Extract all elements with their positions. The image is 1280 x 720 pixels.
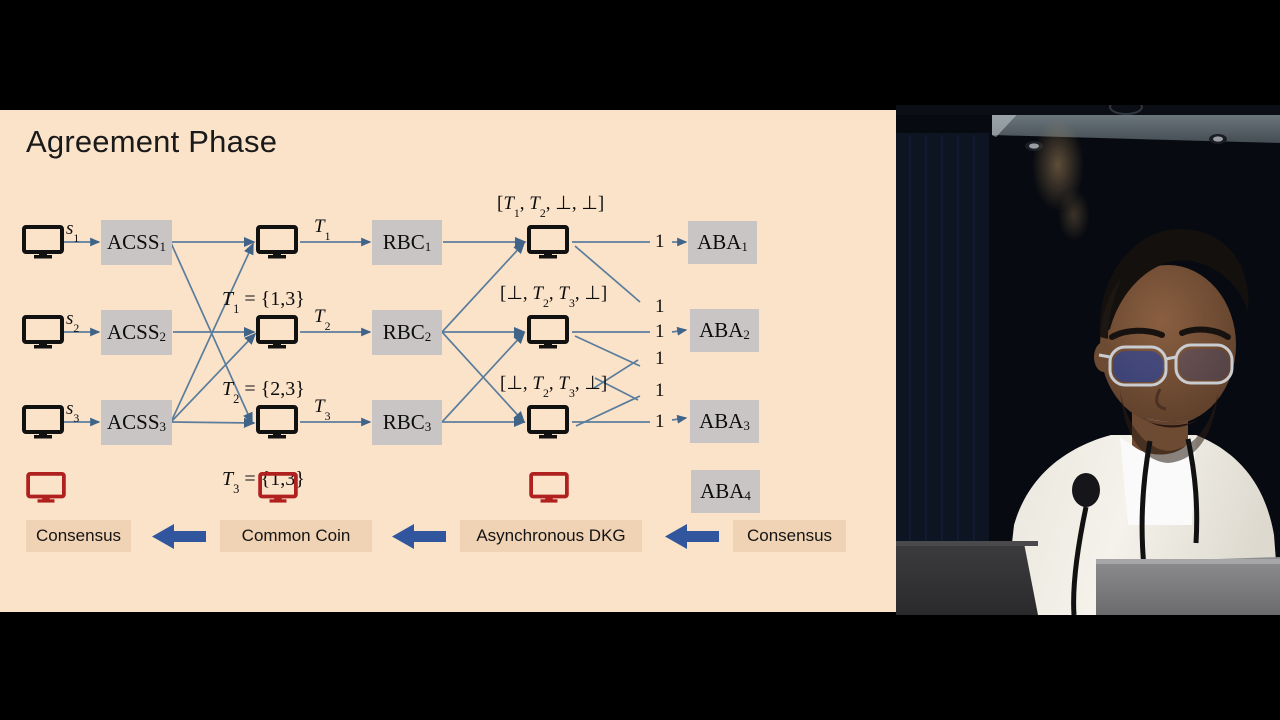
node-monitor-icon-6 (256, 405, 298, 439)
phase-monitor-icon-2 (258, 472, 298, 504)
letterbox-slide-bottom (0, 612, 896, 615)
t-set-label-1: T1 = {1,3} (222, 288, 305, 314)
presentation-slide: Agreement Phase (0, 110, 896, 612)
rbc-box-1: RBC1 (372, 220, 442, 265)
aba-input-value-3: 1 (655, 321, 665, 343)
input-label-s1: s1 (66, 218, 79, 243)
acss-box-3: ACSS3 (101, 400, 172, 445)
node-monitor-icon-7 (527, 225, 569, 259)
node-monitor-icon-4 (256, 225, 298, 259)
aba-box-3: ABA3 (690, 400, 759, 443)
letterbox-slide-top (0, 105, 896, 110)
phase-monitor-icon-3 (529, 472, 569, 504)
node-monitor-icon-3 (22, 405, 64, 439)
aba-input-value-6: 1 (655, 411, 665, 433)
node-monitor-icon-2 (22, 315, 64, 349)
node-monitor-icon-5 (256, 315, 298, 349)
phase-box-async-dkg[interactable]: Asynchronous DKG (460, 520, 642, 552)
node-monitor-icon-1 (22, 225, 64, 259)
aba-box-4: ABA4 (691, 470, 760, 513)
aba-box-1: ABA1 (688, 221, 757, 264)
node-monitor-icon-9 (527, 405, 569, 439)
vector-label-1: [T1, T2, ⊥, ⊥] (497, 192, 604, 218)
letterbox-top (0, 0, 1280, 105)
phase-arrow-icon-2 (392, 522, 446, 551)
input-label-s2: s2 (66, 308, 79, 333)
phase-monitor-icon-1 (26, 472, 66, 504)
page-title: Agreement Phase (26, 124, 277, 160)
t-edge-label-2: T2 (314, 306, 330, 331)
aba-input-value-1: 1 (655, 231, 665, 253)
vector-label-2: [⊥, T2, T3, ⊥] (500, 282, 607, 308)
aba-box-2: ABA2 (690, 309, 759, 352)
speaker-video-feed (896, 105, 1280, 615)
phase-arrow-icon-3 (665, 522, 719, 551)
t-edge-label-1: T1 (314, 216, 330, 241)
screen: Agreement Phase (0, 0, 1280, 720)
letterbox-bottom (0, 615, 1280, 720)
phase-box-consensus-left[interactable]: Consensus (26, 520, 131, 552)
rbc-box-3: RBC3 (372, 400, 442, 445)
vector-label-3: [⊥, T2, T3, ⊥] (500, 372, 607, 398)
t-edge-label-3: T3 (314, 396, 330, 421)
input-label-s3: s3 (66, 398, 79, 423)
rbc-box-2: RBC2 (372, 310, 442, 355)
t-set-label-2: T2 = {2,3} (222, 378, 305, 404)
aba-input-value-4: 1 (655, 348, 665, 370)
aba-input-value-2: 1 (655, 296, 665, 318)
aba-input-value-5: 1 (655, 380, 665, 402)
phase-arrow-icon-1 (152, 522, 206, 551)
phase-box-common-coin[interactable]: Common Coin (220, 520, 372, 552)
node-monitor-icon-8 (527, 315, 569, 349)
phase-box-consensus-right[interactable]: Consensus (733, 520, 846, 552)
acss-box-2: ACSS2 (101, 310, 172, 355)
acss-box-1: ACSS1 (101, 220, 172, 265)
